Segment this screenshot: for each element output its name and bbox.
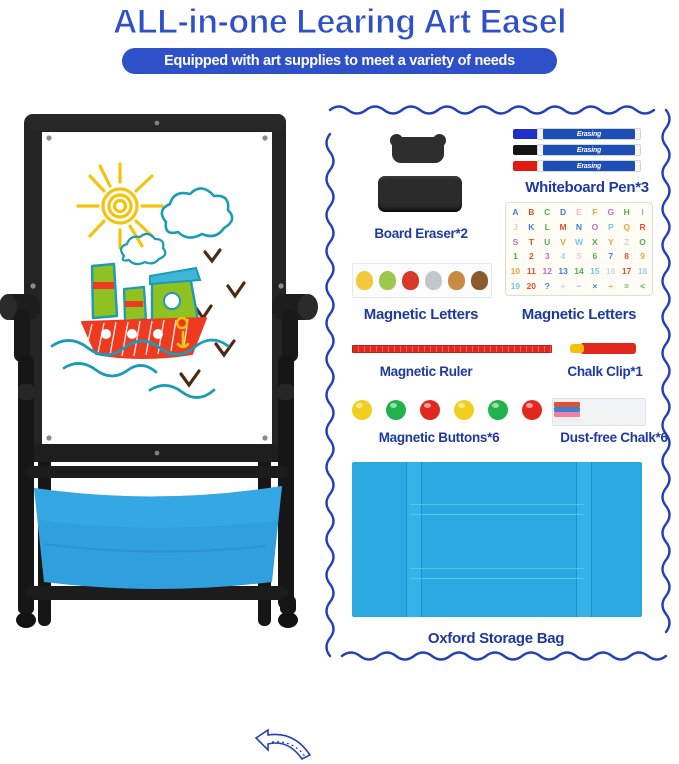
- label-magnetic-buttons: Magnetic Buttons*6: [344, 430, 534, 445]
- letter-tile: V: [556, 235, 571, 249]
- letter-tile: W: [572, 235, 587, 249]
- letter-tile: Y: [603, 235, 618, 249]
- bag-seam: [410, 568, 584, 569]
- easel-illustration: [0, 96, 320, 672]
- letter-tile: ÷: [603, 279, 618, 293]
- chalk-clip: [570, 343, 636, 354]
- pen-tip-red: [513, 161, 539, 171]
- page-title: ALL-in-one Learing Art Easel: [0, 2, 679, 42]
- letter-tile: D: [556, 205, 571, 219]
- chalk-stick: [554, 417, 580, 422]
- letter-tile: R: [635, 220, 650, 234]
- magnetic-button: [454, 400, 474, 420]
- decorative-arrow-icon: [250, 728, 320, 764]
- pen-tip-blue: [513, 129, 539, 139]
- frog-magnet-icon: [379, 271, 396, 290]
- letter-tile: N: [572, 220, 587, 234]
- letter-tile: 20: [524, 279, 539, 293]
- header-banner: ALL-in-one Learing Art Easel Equipped wi…: [0, 0, 679, 92]
- letter-tile: M: [556, 220, 571, 234]
- elephant-magnet-icon: [425, 271, 442, 290]
- letter-tile: +: [556, 279, 571, 293]
- label-magnetic-letters-animals: Magnetic Letters: [346, 306, 496, 323]
- letter-tile: 12: [540, 264, 555, 278]
- letter-tile: K: [524, 220, 539, 234]
- letter-tile: U: [540, 235, 555, 249]
- magnetic-button: [522, 400, 542, 420]
- letter-tile: 16: [603, 264, 618, 278]
- ladybug-magnet-icon: [402, 271, 419, 290]
- bag-seam: [410, 514, 584, 515]
- letter-tile: Q: [619, 220, 634, 234]
- letter-tile: H: [619, 205, 634, 219]
- letter-tile: X: [587, 235, 602, 249]
- letter-tile: O: [587, 220, 602, 234]
- letter-tile: =: [619, 279, 634, 293]
- letter-tile: 8: [619, 249, 634, 263]
- letter-tile: E: [572, 205, 587, 219]
- magnetic-animal-strip: [352, 263, 492, 298]
- magnetic-letters-board: ABCDEFGHIJKLMNOPQRSTUVWXYZO1234567891011…: [505, 202, 653, 296]
- pen-label-black: Erasing: [543, 145, 635, 155]
- label-board-eraser: Board Eraser*2: [346, 226, 496, 241]
- letter-tile: 14: [572, 264, 587, 278]
- chalk-clip-tip: [570, 344, 584, 353]
- bee-magnet-icon: [356, 271, 373, 290]
- bag-strap-right: [576, 462, 592, 617]
- magnetic-button: [420, 400, 440, 420]
- letter-tile: 17: [619, 264, 634, 278]
- letter-tile: 10: [508, 264, 523, 278]
- letter-tile: P: [603, 220, 618, 234]
- letter-tile: 3: [540, 249, 555, 263]
- label-dust-free-chalk: Dust-free Chalk*6: [534, 430, 679, 445]
- magnetic-ruler: [352, 345, 552, 353]
- letter-tile: L: [540, 220, 555, 234]
- letter-tile: −: [572, 279, 587, 293]
- letter-tile: 11: [524, 264, 539, 278]
- letter-tile: ?: [540, 279, 555, 293]
- letter-tile: <: [635, 279, 650, 293]
- chalk-clip-body: [580, 343, 636, 354]
- letter-tile: 5: [572, 249, 587, 263]
- chalk-sticks: [554, 402, 580, 422]
- magnetic-button: [352, 400, 372, 420]
- letter-tile: J: [508, 220, 523, 234]
- letter-tile: 18: [635, 264, 650, 278]
- board-eraser-large: [378, 176, 462, 212]
- pen-label-red: Erasing: [543, 161, 635, 171]
- label-chalk-clip: Chalk Clip*1: [540, 364, 670, 379]
- letter-tile: B: [524, 205, 539, 219]
- horse-magnet-icon: [471, 271, 488, 290]
- label-oxford-storage-bag: Oxford Storage Bag: [396, 630, 596, 647]
- letter-tile: 19: [508, 279, 523, 293]
- dust-free-chalk-box: [552, 398, 646, 426]
- subtitle-text: Equipped with art supplies to meet a var…: [164, 53, 515, 69]
- label-magnetic-letters-board: Magnetic Letters: [505, 306, 653, 323]
- letter-tile: 15: [587, 264, 602, 278]
- letter-tile: G: [603, 205, 618, 219]
- letter-tile: 6: [587, 249, 602, 263]
- letter-tile: C: [540, 205, 555, 219]
- magnetic-button: [488, 400, 508, 420]
- letter-tile: O: [635, 235, 650, 249]
- letter-tile: F: [587, 205, 602, 219]
- magnetic-buttons: [352, 400, 542, 422]
- letter-tile: S: [508, 235, 523, 249]
- letter-tile: A: [508, 205, 523, 219]
- art-easel-photo: [0, 96, 320, 672]
- letter-tile: ×: [587, 279, 602, 293]
- letter-tile: 9: [635, 249, 650, 263]
- label-whiteboard-pen: Whiteboard Pen*3: [504, 179, 670, 196]
- letter-tile: 2: [524, 249, 539, 263]
- letter-tile: 13: [556, 264, 571, 278]
- letter-tile: 1: [508, 249, 523, 263]
- pen-tip-black: [513, 145, 539, 155]
- pen-label-blue: Erasing: [543, 129, 635, 139]
- magnetic-button: [386, 400, 406, 420]
- label-magnetic-ruler: Magnetic Ruler: [346, 364, 506, 379]
- letter-tile: 7: [603, 249, 618, 263]
- whiteboard-pen-blue: Erasing: [513, 128, 641, 140]
- subtitle-pill: Equipped with art supplies to meet a var…: [122, 48, 557, 74]
- letter-tile: I: [635, 205, 650, 219]
- letter-tile: Z: [619, 235, 634, 249]
- whiteboard-pen-black: Erasing: [513, 144, 641, 156]
- oxford-storage-bag: [352, 462, 642, 617]
- board-eraser-small: [392, 137, 444, 163]
- bag-strap-left: [406, 462, 422, 617]
- letter-tile: 4: [556, 249, 571, 263]
- whiteboard-pen-red: Erasing: [513, 160, 641, 172]
- letter-tile: T: [524, 235, 539, 249]
- bag-seam: [410, 504, 584, 505]
- bag-seam: [410, 578, 584, 579]
- monkey-magnet-icon: [448, 271, 465, 290]
